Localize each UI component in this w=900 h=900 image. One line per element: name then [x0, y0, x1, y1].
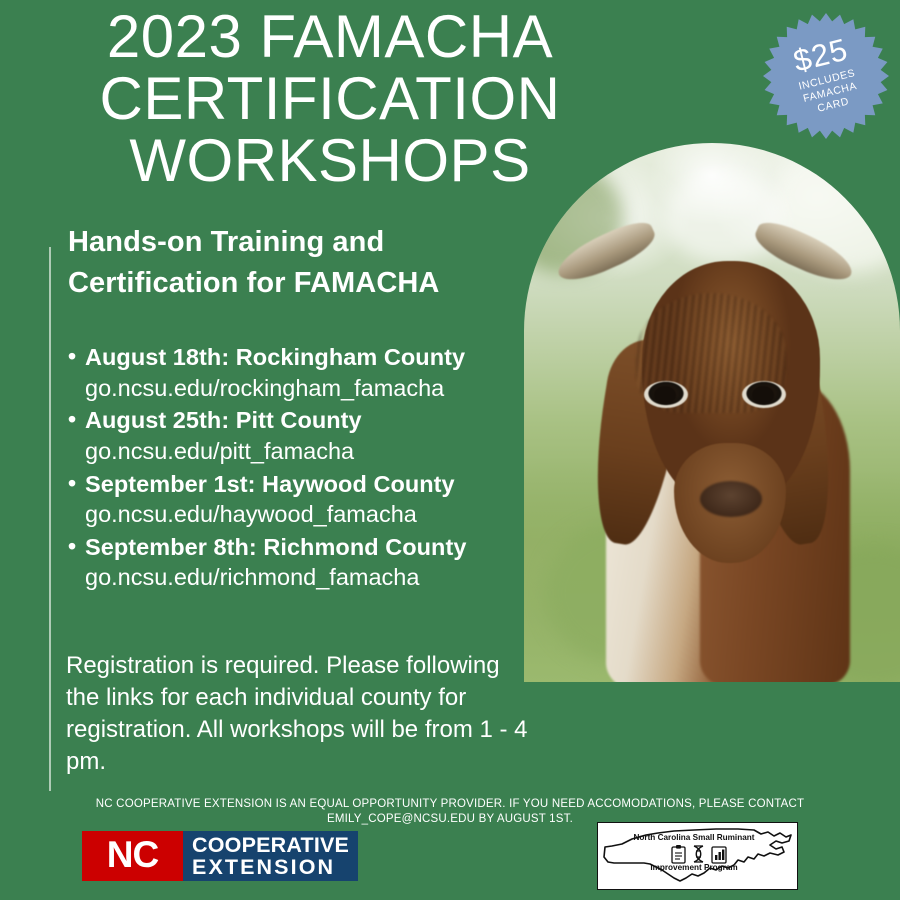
- workshop-link[interactable]: go.ncsu.edu/pitt_famacha: [68, 436, 538, 468]
- list-item: • August 18th: Rockingham County go.ncsu…: [68, 342, 538, 404]
- registration-note: Registration is required. Please followi…: [66, 650, 536, 778]
- bullet-icon: •: [68, 342, 85, 372]
- workshop-title: August 25th: Pitt County: [85, 405, 362, 436]
- starburst-icon: [762, 12, 890, 140]
- list-item: • August 25th: Pitt County go.ncsu.edu/p…: [68, 405, 538, 467]
- workshop-heading: • August 18th: Rockingham County: [68, 342, 538, 373]
- nc-state-outline-icon: North Carolina Small Ruminant Improvemen…: [598, 823, 797, 889]
- workshop-heading: • September 1st: Haywood County: [68, 469, 538, 500]
- workshop-title: September 8th: Richmond County: [85, 532, 466, 563]
- poster-canvas: $25 INCLUDES FAMACHA CARD 2023 FAMACHA C…: [0, 0, 900, 900]
- nc-logo-wordmark: COOPERATIVE EXTENSION: [183, 831, 358, 881]
- goat-pupil-right: [752, 386, 774, 404]
- nc-logo-word-line-2: EXTENSION: [192, 856, 349, 878]
- vertical-accent-rule: [49, 247, 51, 791]
- workshop-title: September 1st: Haywood County: [85, 469, 455, 500]
- workshop-heading: • September 8th: Richmond County: [68, 532, 538, 563]
- headline-line-3: WORKSHOPS: [0, 130, 660, 192]
- small-ruminant-program-logo: North Carolina Small Ruminant Improvemen…: [597, 822, 798, 890]
- price-badge: $25 INCLUDES FAMACHA CARD: [762, 12, 890, 140]
- list-item: • September 8th: Richmond County go.ncsu…: [68, 532, 538, 594]
- workshop-heading: • August 25th: Pitt County: [68, 405, 538, 436]
- bullet-icon: •: [68, 469, 85, 499]
- list-item: • September 1st: Haywood County go.ncsu.…: [68, 469, 538, 531]
- bar-chart-icon: [712, 847, 726, 863]
- workshop-link[interactable]: go.ncsu.edu/rockingham_famacha: [68, 373, 538, 405]
- bullet-icon: •: [68, 532, 85, 562]
- goat-pupil-left: [654, 386, 676, 404]
- headline-line-1: 2023 FAMACHA: [0, 6, 660, 68]
- sr-logo-line-2: Improvement Program: [650, 863, 737, 872]
- subtitle: Hands-on Training and Certification for …: [68, 222, 538, 304]
- nc-logo-word-line-1: COOPERATIVE: [192, 834, 349, 856]
- workshop-link[interactable]: go.ncsu.edu/richmond_famacha: [68, 562, 538, 594]
- disclaimer-line-1: NC COOPERATIVE EXTENSION IS AN EQUAL OPP…: [0, 797, 900, 812]
- workshop-list: • August 18th: Rockingham County go.ncsu…: [68, 342, 538, 595]
- clipboard-icon: [672, 845, 685, 863]
- workshop-link[interactable]: go.ncsu.edu/haywood_famacha: [68, 499, 538, 531]
- bullet-icon: •: [68, 405, 85, 435]
- headline-line-2: CERTIFICATION: [0, 68, 660, 130]
- sr-logo-line-1: North Carolina Small Ruminant: [633, 833, 754, 842]
- nc-logo-mark: NC: [82, 831, 183, 881]
- goat-photo: [524, 143, 900, 682]
- page-title: 2023 FAMACHA CERTIFICATION WORKSHOPS: [0, 6, 660, 191]
- goat-nose: [700, 481, 762, 517]
- nc-cooperative-extension-logo: NC COOPERATIVE EXTENSION: [82, 831, 358, 881]
- workshop-title: August 18th: Rockingham County: [85, 342, 465, 373]
